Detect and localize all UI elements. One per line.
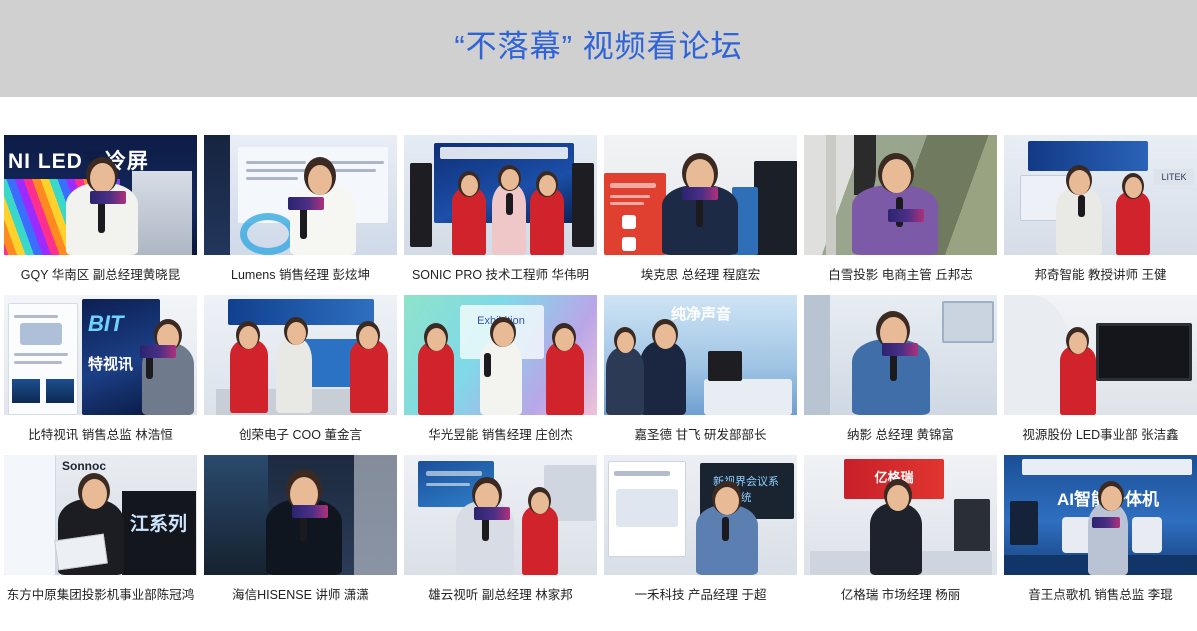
gallery-item[interactable]: 亿格瑞 亿格瑞 市场经理 杨丽: [804, 455, 997, 615]
page-header: “不落幕” 视频看论坛: [0, 0, 1197, 97]
video-thumbnail[interactable]: 纯净声音: [604, 295, 797, 415]
video-thumbnail[interactable]: [404, 455, 597, 575]
video-gallery-grid: NI LED节冷屏 GQY 华南区 副总经理黄晓昆: [0, 97, 1197, 631]
gallery-item[interactable]: 埃克思 总经理 程庭宏: [604, 135, 797, 295]
gallery-item[interactable]: SONIC PRO 技术工程师 华伟明: [404, 135, 597, 295]
gallery-item-caption: 纳影 总经理 黄锦富: [804, 425, 997, 445]
gallery-item[interactable]: LITEK 邦奇智能 教授讲师 王健: [1004, 135, 1197, 295]
gallery-item[interactable]: 视源股份 LED事业部 张洁鑫: [1004, 295, 1197, 455]
video-thumbnail[interactable]: BIT 特视讯: [4, 295, 197, 415]
gallery-item[interactable]: Sonnoc 江系列 东方中原集团投影机事业部陈冠鸿: [4, 455, 197, 615]
gallery-item-caption: 海信HISENSE 讲师 潇潇: [204, 585, 397, 605]
page-title: “不落幕” 视频看论坛: [454, 31, 742, 66]
gallery-item-caption: 音王点歌机 销售总监 李琨: [1004, 585, 1197, 605]
gallery-item[interactable]: NI LED节冷屏 GQY 华南区 副总经理黄晓昆: [4, 135, 197, 295]
gallery-item-caption: 邦奇智能 教授讲师 王健: [1004, 265, 1197, 285]
gallery-item[interactable]: 创荣电子 COO 董金言: [204, 295, 397, 455]
video-thumbnail[interactable]: 亿格瑞: [804, 455, 997, 575]
video-thumbnail[interactable]: [404, 135, 597, 255]
gallery-item-caption: SONIC PRO 技术工程师 华伟明: [404, 265, 597, 285]
gallery-item-caption: 一禾科技 产品经理 于超: [604, 585, 797, 605]
video-thumbnail[interactable]: [804, 295, 997, 415]
gallery-item[interactable]: 新视界会议系统 一禾科技 产品经理 于超: [604, 455, 797, 615]
gallery-item[interactable]: 海信HISENSE 讲师 潇潇: [204, 455, 397, 615]
gallery-item-caption: 亿格瑞 市场经理 杨丽: [804, 585, 997, 605]
gallery-item[interactable]: 纳影 总经理 黄锦富: [804, 295, 997, 455]
gallery-item-caption: 嘉圣德 甘飞 研发部部长: [604, 425, 797, 445]
gallery-item-caption: 华光昱能 销售经理 庄创杰: [404, 425, 597, 445]
video-thumbnail[interactable]: [204, 295, 397, 415]
gallery-item[interactable]: Lumens 销售经理 彭炫坤: [204, 135, 397, 295]
video-thumbnail[interactable]: [204, 455, 397, 575]
video-thumbnail[interactable]: 新视界会议系统: [604, 455, 797, 575]
gallery-item[interactable]: 雄云视听 副总经理 林家邦: [404, 455, 597, 615]
gallery-item-caption: Lumens 销售经理 彭炫坤: [204, 265, 397, 285]
page-root: “不落幕” 视频看论坛 NI LED节冷屏 GQY 华南区 副总经理黄晓昆: [0, 0, 1197, 631]
gallery-item-caption: 东方中原集团投影机事业部陈冠鸿: [4, 585, 197, 605]
gallery-item[interactable]: AI智能一体机 音王点歌机 销售总监 李琨: [1004, 455, 1197, 615]
gallery-item-caption: GQY 华南区 副总经理黄晓昆: [4, 265, 197, 285]
gallery-item[interactable]: BIT 特视讯 比特视讯 销售总监 林浩恒: [4, 295, 197, 455]
video-thumbnail[interactable]: [1004, 295, 1197, 415]
video-thumbnail[interactable]: LITEK: [1004, 135, 1197, 255]
video-thumbnail[interactable]: Sonnoc 江系列: [4, 455, 197, 575]
gallery-item[interactable]: 纯净声音 嘉圣德 甘飞 研发部部长: [604, 295, 797, 455]
gallery-item-caption: 雄云视听 副总经理 林家邦: [404, 585, 597, 605]
video-thumbnail[interactable]: [204, 135, 397, 255]
gallery-item[interactable]: 白雪投影 电商主管 丘邦志: [804, 135, 997, 295]
video-thumbnail[interactable]: AI智能一体机: [1004, 455, 1197, 575]
gallery-item-caption: 视源股份 LED事业部 张洁鑫: [1004, 425, 1197, 445]
gallery-item-caption: 创荣电子 COO 董金言: [204, 425, 397, 445]
gallery-item-caption: 比特视讯 销售总监 林浩恒: [4, 425, 197, 445]
gallery-item-caption: 白雪投影 电商主管 丘邦志: [804, 265, 997, 285]
video-thumbnail[interactable]: Exhibition: [404, 295, 597, 415]
gallery-item[interactable]: Exhibition 华光昱能 销售经理 庄创杰: [404, 295, 597, 455]
video-thumbnail[interactable]: [804, 135, 997, 255]
video-thumbnail[interactable]: [604, 135, 797, 255]
gallery-item-caption: 埃克思 总经理 程庭宏: [604, 265, 797, 285]
video-thumbnail[interactable]: NI LED节冷屏: [4, 135, 197, 255]
